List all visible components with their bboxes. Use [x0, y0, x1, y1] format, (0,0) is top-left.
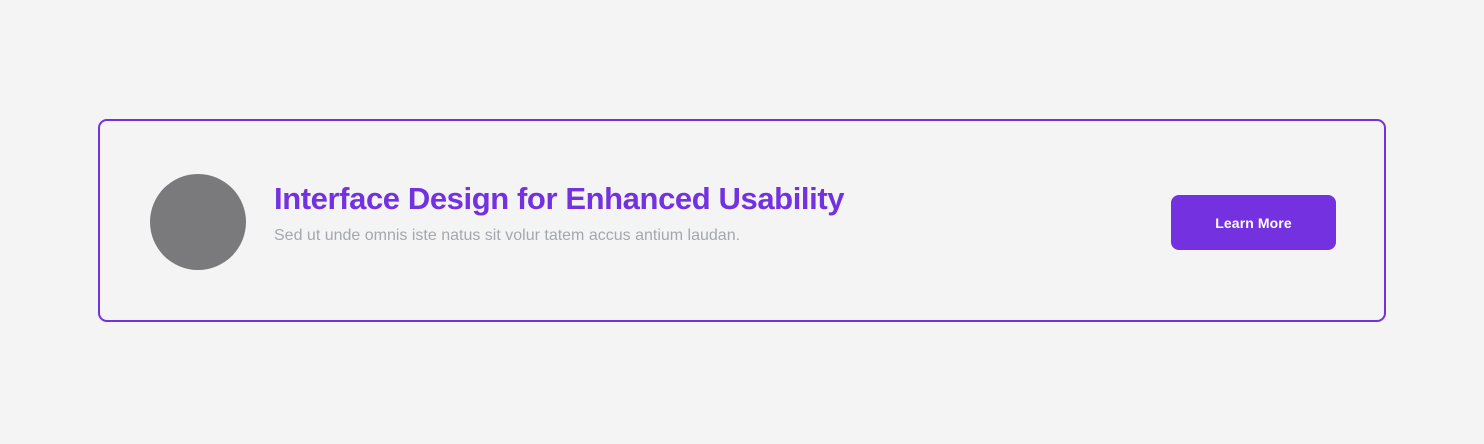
avatar	[150, 174, 246, 270]
page-title: Interface Design for Enhanced Usability	[274, 181, 1094, 217]
page-root: Interface Design for Enhanced Usability …	[0, 0, 1484, 444]
learn-more-button[interactable]: Learn More	[1171, 195, 1336, 250]
card-subtitle: Sed ut unde omnis iste natus sit volur t…	[274, 217, 1094, 246]
promo-card: Interface Design for Enhanced Usability …	[98, 119, 1386, 322]
card-text-block: Interface Design for Enhanced Usability …	[274, 181, 1094, 246]
